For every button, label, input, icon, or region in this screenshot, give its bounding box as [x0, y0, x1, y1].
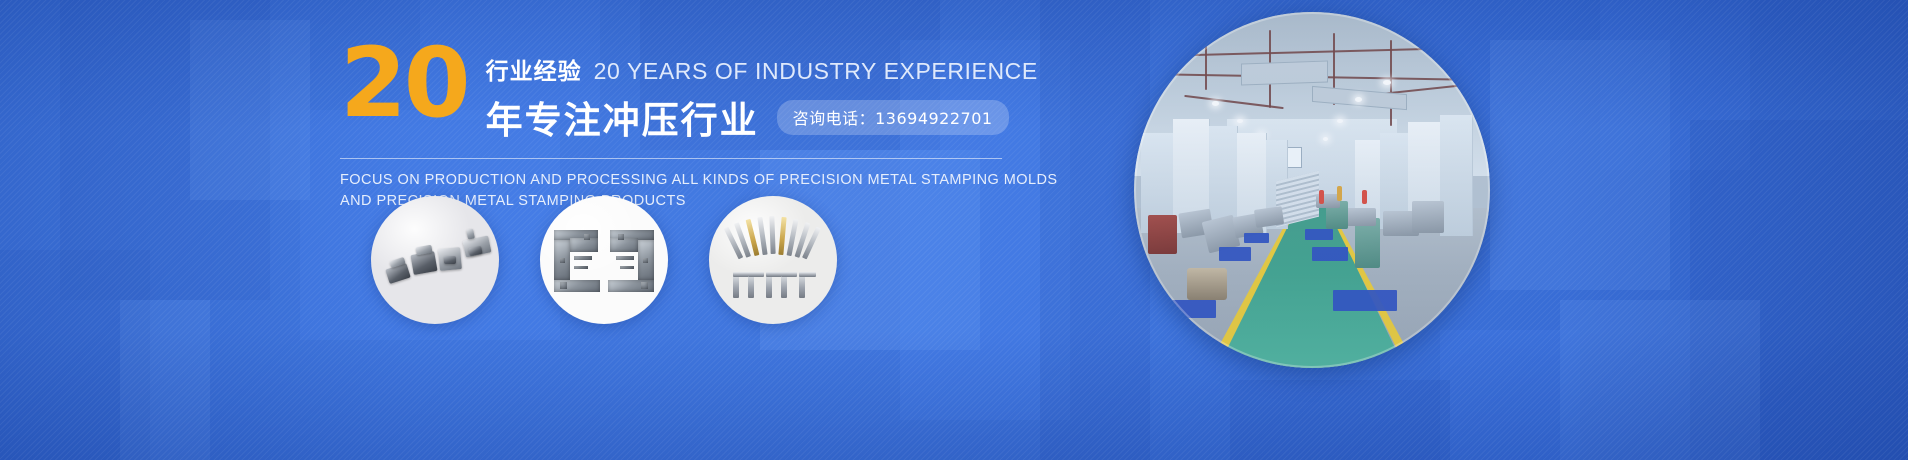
headline-en-small: 20 YEARS OF INDUSTRY EXPERIENCE	[594, 58, 1038, 85]
years-number: 20	[340, 44, 468, 123]
product-circle-metal-terminal-pins[interactable]	[709, 196, 837, 324]
headline-top-row: 20 行业经验 20 YEARS OF INDUSTRY EXPERIENCE …	[340, 42, 1100, 144]
headline-cn-small: 行业经验	[486, 52, 582, 86]
headline-block: 20 行业经验 20 YEARS OF INDUSTRY EXPERIENCE …	[340, 42, 1100, 211]
headline-text-group: 行业经验 20 YEARS OF INDUSTRY EXPERIENCE 年专注…	[486, 42, 1038, 144]
product-circle-stamping-die-mold[interactable]	[540, 196, 668, 324]
subtitle-line-1: FOCUS ON PRODUCTION AND PROCESSING ALL K…	[340, 170, 1012, 191]
headline-line-1: 行业经验 20 YEARS OF INDUSTRY EXPERIENCE	[486, 52, 1038, 86]
phone-badge[interactable]: 咨询电话：13694922701	[777, 100, 1009, 135]
headline-line-2: 年专注冲压行业 咨询电话：13694922701	[486, 90, 1038, 144]
product-circle-usb-connectors[interactable]	[371, 196, 499, 324]
company-hero-banner: 20 行业经验 20 YEARS OF INDUSTRY EXPERIENCE …	[0, 0, 1908, 460]
factory-workshop-photo[interactable]	[1134, 12, 1490, 368]
headline-divider	[340, 158, 1002, 159]
headline-cn-large: 年专注冲压行业	[486, 90, 759, 144]
